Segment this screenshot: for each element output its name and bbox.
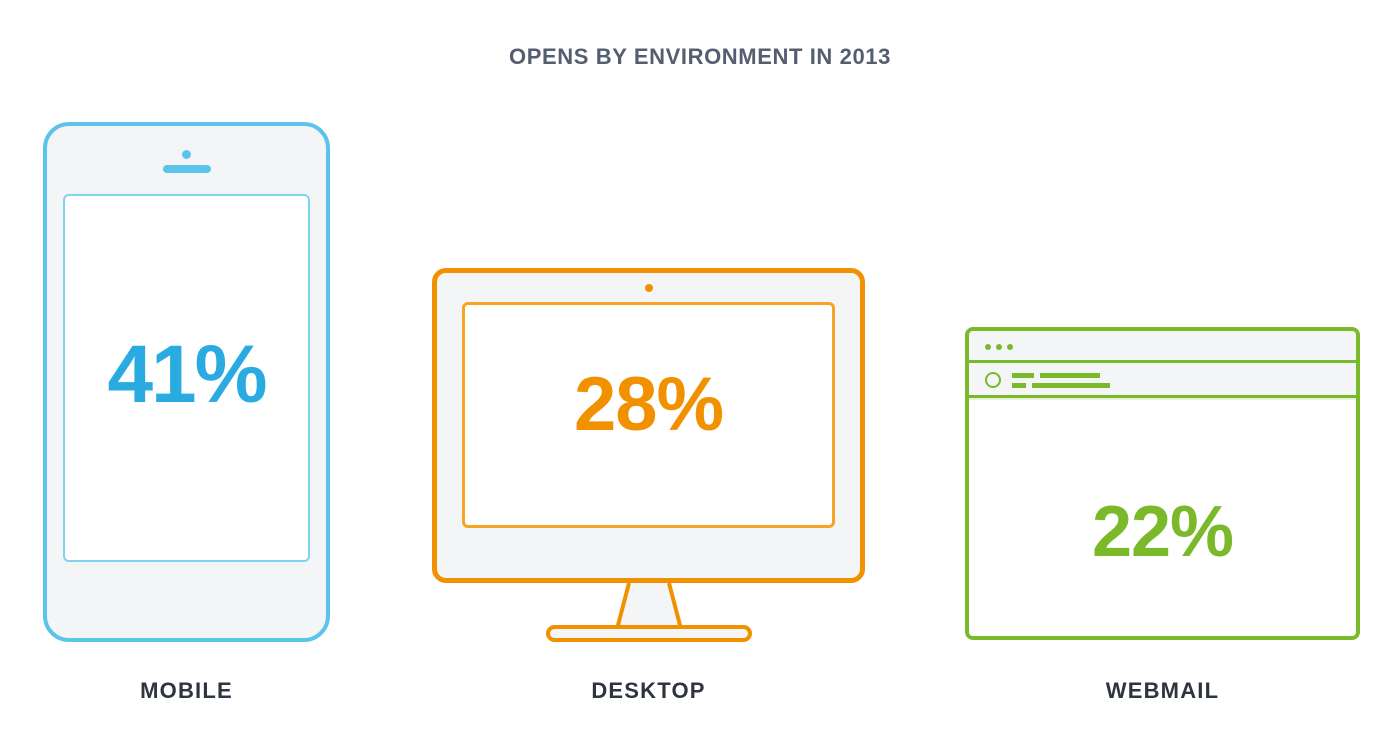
mobile-percentage: 41% <box>65 334 308 416</box>
webmail-text-bar <box>1032 383 1110 388</box>
webmail-percentage: 22% <box>969 496 1356 568</box>
webmail-text-line-row-2 <box>1012 383 1110 388</box>
monitor-screen: 28% <box>462 302 835 528</box>
phone-speaker-icon <box>163 165 211 173</box>
avatar-icon <box>985 372 1001 388</box>
window-dots-icon <box>985 344 1013 350</box>
phone-screen: 41% <box>63 194 310 562</box>
webmail-text-bar <box>1040 373 1100 378</box>
mobile-label: MOBILE <box>43 678 330 704</box>
phone-body: 41% <box>43 122 330 642</box>
webmail-text-bar <box>1012 383 1026 388</box>
monitor-body: 28% <box>432 268 865 583</box>
monitor-camera-icon <box>645 284 653 292</box>
page-title: OPENS BY ENVIRONMENT IN 2013 <box>0 44 1400 70</box>
mobile-figure: 41% <box>43 122 330 642</box>
monitor-base <box>546 625 752 642</box>
window-dot-1 <box>985 344 991 350</box>
phone-camera-icon <box>182 150 191 159</box>
webmail-figure: 22% <box>965 327 1360 640</box>
monitor-stand <box>599 583 699 629</box>
desktop-figure: 28% <box>432 268 865 648</box>
desktop-label: DESKTOP <box>432 678 865 704</box>
window-dot-2 <box>996 344 1002 350</box>
webmail-titlebar <box>969 331 1356 363</box>
webmail-window: 22% <box>965 327 1360 640</box>
webmail-content: 22% <box>969 398 1356 636</box>
webmail-text-line-row-1 <box>1012 373 1100 378</box>
window-dot-3 <box>1007 344 1013 350</box>
webmail-label: WEBMAIL <box>965 678 1360 704</box>
desktop-percentage: 28% <box>465 367 832 443</box>
webmail-toolbar <box>969 363 1356 398</box>
webmail-text-bar <box>1012 373 1034 378</box>
